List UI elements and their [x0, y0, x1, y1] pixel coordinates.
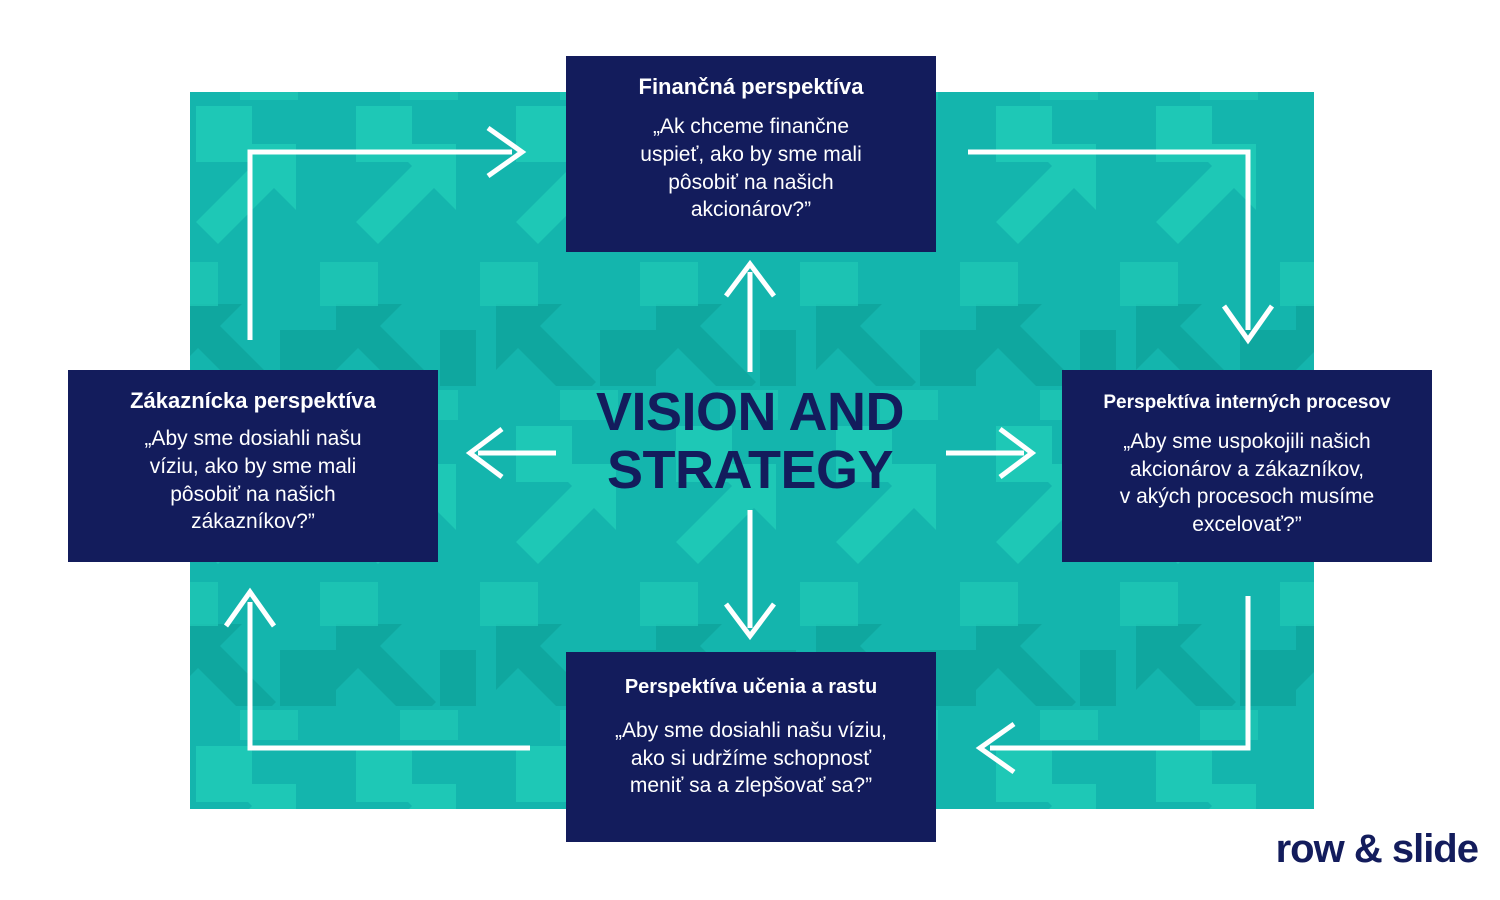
brand-logo: row & slide	[1276, 827, 1478, 872]
perspective-box-learning-growth-title: Perspektíva učenia a rastu	[625, 676, 877, 699]
slide-canvas: VISION AND STRATEGY Finančná perspektíva…	[0, 0, 1500, 900]
perspective-box-internal-processes[interactable]: Perspektíva interných procesov „Aby sme …	[1062, 370, 1432, 562]
perspective-box-customer-body: „Aby sme dosiahli našu víziu, ako by sme…	[144, 425, 361, 536]
center-title: VISION AND STRATEGY	[530, 383, 970, 500]
perspective-box-customer[interactable]: Zákaznícka perspektíva „Aby sme dosiahli…	[68, 370, 438, 562]
perspective-box-financial[interactable]: Finančná perspektíva „Ak chceme finančne…	[566, 56, 936, 252]
perspective-box-learning-growth[interactable]: Perspektíva učenia a rastu „Aby sme dosi…	[566, 652, 936, 842]
perspective-box-customer-title: Zákaznícka perspektíva	[130, 388, 376, 413]
perspective-box-internal-processes-title: Perspektíva interných procesov	[1103, 392, 1390, 414]
perspective-box-learning-growth-body: „Aby sme dosiahli našu víziu, ako si udr…	[615, 717, 887, 800]
perspective-box-internal-processes-body: „Aby sme uspokojili našich akcionárov a …	[1120, 428, 1374, 539]
perspective-box-financial-title: Finančná perspektíva	[639, 74, 864, 99]
perspective-box-financial-body: „Ak chceme finančne uspieť, ako by sme m…	[640, 113, 861, 224]
